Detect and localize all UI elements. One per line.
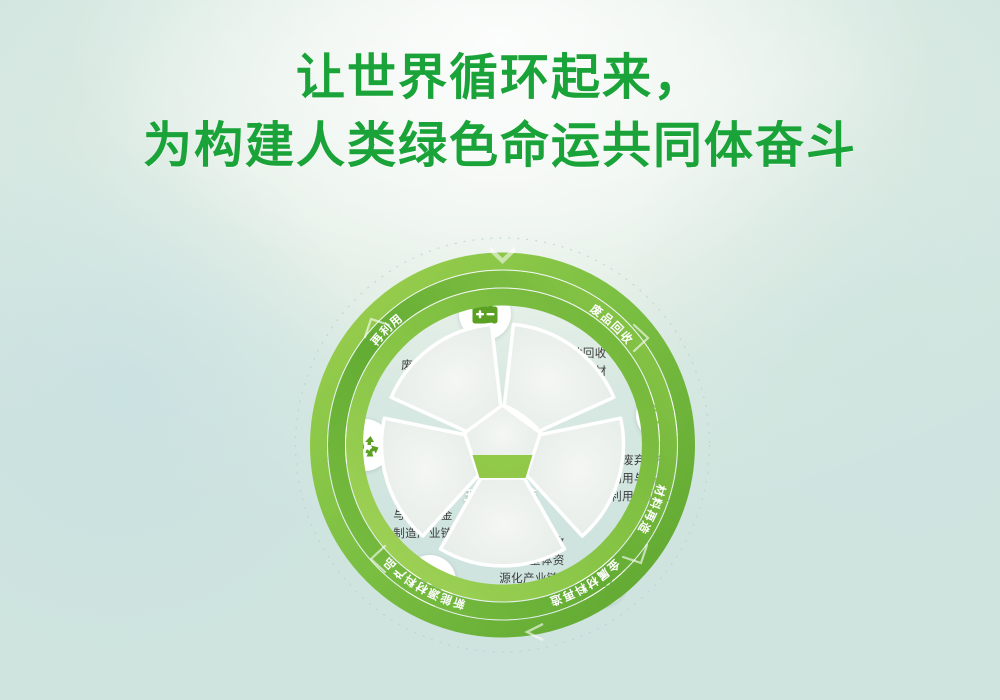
- center-pentagon-band: [473, 455, 533, 478]
- diagram-svg: 废品回收 材料再造 金属材料再造 新能源材料产品 再利用: [285, 215, 720, 675]
- industry-chain-petals: [368, 311, 636, 566]
- page-title: 让世界循环起来， 为构建人类绿色命运共同体奋斗: [0, 44, 1000, 179]
- page-title-line-2: 为构建人类绿色命运共同体奋斗: [0, 112, 1000, 180]
- page-title-line-1: 让世界循环起来，: [0, 44, 1000, 112]
- circular-industry-diagram: 废品回收 材料再造 金属材料再造 新能源材料产品 再利用: [285, 215, 720, 675]
